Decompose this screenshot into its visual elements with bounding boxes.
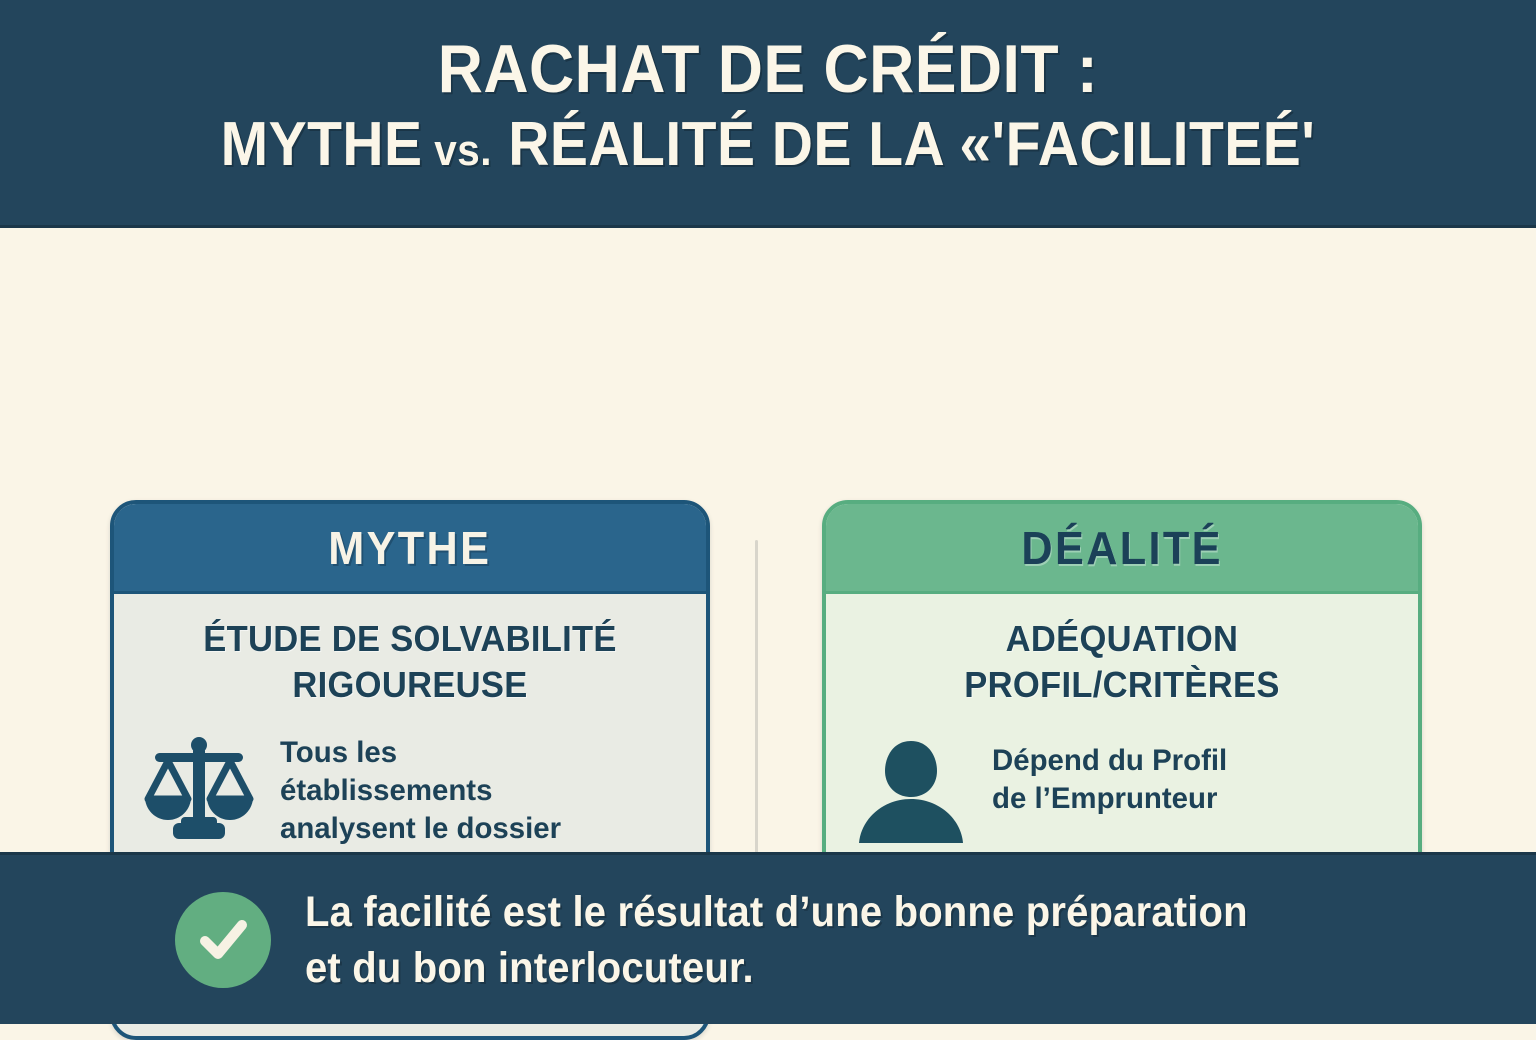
myth-bullet-1-line-2: établissements (280, 772, 561, 810)
content-area: MYTHE ÉTUDE DE SOLVABILITÉ RIGOUREUSE (0, 228, 1536, 852)
myth-bullet-1-line-1: Tous les (280, 734, 561, 772)
title-vs-word: vs. (434, 126, 492, 175)
myth-card-header-label: MYTHE (328, 521, 491, 575)
reality-bullet-1-line-2: de l’Emprunteur (992, 780, 1227, 818)
myth-bullet-1-line-3: analysent le dossier (280, 810, 561, 848)
title-mythe-word: MYTHE (221, 110, 423, 179)
footer-message-line-2: et du bon interlocuteur. (305, 940, 1248, 996)
balance-scale-icon (140, 730, 258, 848)
footer-message-line-1: La facilité est le résultat d’une bonne … (305, 884, 1248, 940)
myth-bullet-item-1: Tous les établissements analysent le dos… (140, 730, 680, 848)
myth-card-subtitle: ÉTUDE DE SOLVABILITÉ RIGOUREUSE (151, 616, 669, 708)
header-banner: RACHAT DE CRÉDIT : MYTHE vs. RÉALITÉ DE … (0, 0, 1536, 228)
infographic-root: RACHAT DE CRÉDIT : MYTHE vs. RÉALITÉ DE … (0, 0, 1536, 1024)
reality-subtitle-line-1: ADÉQUATION (863, 616, 1381, 662)
reality-bullet-text-1: Dépend du Profil de l’Emprunteur (992, 732, 1227, 818)
reality-card-subtitle: ADÉQUATION PROFIL/CRITÈRES (863, 616, 1381, 708)
reality-bullet-item-1: Dépend du Profil de l’Emprunteur (852, 732, 1392, 850)
myth-subtitle-line-1: ÉTUDE DE SOLVABILITÉ (151, 616, 669, 662)
myth-bullet-text-1: Tous les établissements analysent le dos… (280, 730, 561, 848)
title-line-1: RACHAT DE CRÉDIT : (438, 32, 1098, 106)
title-line-2: MYTHE vs. RÉALITÉ DE LA «'FACILITEÉ' (221, 110, 1316, 186)
footer-banner: La facilité est le résultat d’une bonne … (0, 852, 1536, 1024)
reality-card-header-label: DÉALITÉ (1021, 521, 1222, 575)
reality-subtitle-line-2: PROFIL/CRITÈRES (863, 662, 1381, 708)
check-circle-icon (175, 892, 271, 988)
myth-subtitle-line-2: RIGOUREUSE (151, 662, 669, 708)
myth-card-header: MYTHE (114, 504, 706, 594)
title-realite-phrase: RÉALITÉ DE LA «'FACILITEÉ' (508, 110, 1315, 179)
footer-message: La facilité est le résultat d’une bonne … (305, 884, 1248, 996)
person-silhouette-icon (852, 732, 970, 850)
reality-bullet-1-line-1: Dépend du Profil (992, 742, 1227, 780)
reality-card-header: DÉALITÉ (826, 504, 1418, 594)
